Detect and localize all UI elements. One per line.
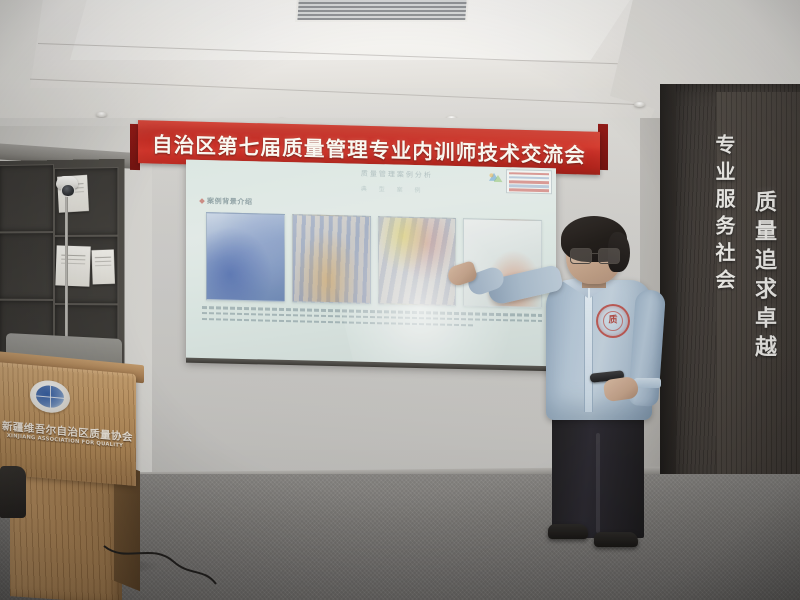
presentation-logo: [487, 171, 504, 185]
glasses-bridge: [590, 253, 598, 254]
camera-lens-icon: [61, 184, 75, 197]
mini-table-row: [509, 172, 549, 176]
camera-pole: [65, 196, 68, 346]
shirt-cuff: [634, 378, 661, 388]
calligraphy-right-column: 质量追求卓越: [748, 190, 780, 364]
downlight-icon: [634, 102, 645, 107]
slide-bullet-label: 案例背景介绍: [207, 196, 253, 207]
glasses-lens-right: [598, 248, 620, 264]
bullet-dot-icon: [199, 198, 205, 204]
glasses-icon: [570, 248, 620, 262]
shirt-placket: [584, 288, 593, 412]
photo-thumb-2: [292, 214, 371, 304]
slide-bullet-heading: 案例背景介绍: [200, 196, 253, 207]
floor-cable: [100, 540, 220, 600]
globe-icon: [36, 384, 64, 408]
slide-subtitle: 典 型 案 例: [297, 182, 489, 196]
calligraphy-left-column: 专业服务社会: [710, 134, 739, 296]
mini-table-row: [509, 189, 549, 193]
mini-table-row: [509, 184, 549, 188]
downlight-icon: [96, 112, 107, 117]
mini-table-row: [509, 180, 549, 184]
presenter-badge: 质: [596, 304, 630, 338]
shelf-cell: [0, 232, 54, 300]
floor-object: [0, 466, 26, 518]
glasses-lens-left: [570, 248, 592, 264]
ceiling-vent-icon: [295, 0, 469, 22]
camera-dome: [56, 176, 78, 189]
presenter: 质: [466, 228, 676, 558]
presenter-badge-label: 质: [598, 317, 628, 326]
trouser-seam: [596, 433, 600, 533]
shelf-document: [92, 249, 115, 284]
photo-thumb-1: [206, 212, 285, 302]
conference-room-photo: 自治区第七届质量管理专业内训师技术交流会 质量管理案例分析 典 型 案 例 案例…: [0, 0, 800, 600]
shelf-document: [55, 245, 90, 286]
mini-table-row: [509, 176, 549, 180]
presenter-shoe-right: [594, 532, 638, 547]
shelf-cell: [0, 164, 54, 232]
globe-emblem: [30, 379, 70, 414]
photo-thumb-3: [378, 216, 457, 306]
slide-title: 质量管理案例分析: [319, 168, 474, 182]
presenter-shoe-left: [548, 524, 588, 539]
slide-mini-table: [506, 169, 552, 194]
